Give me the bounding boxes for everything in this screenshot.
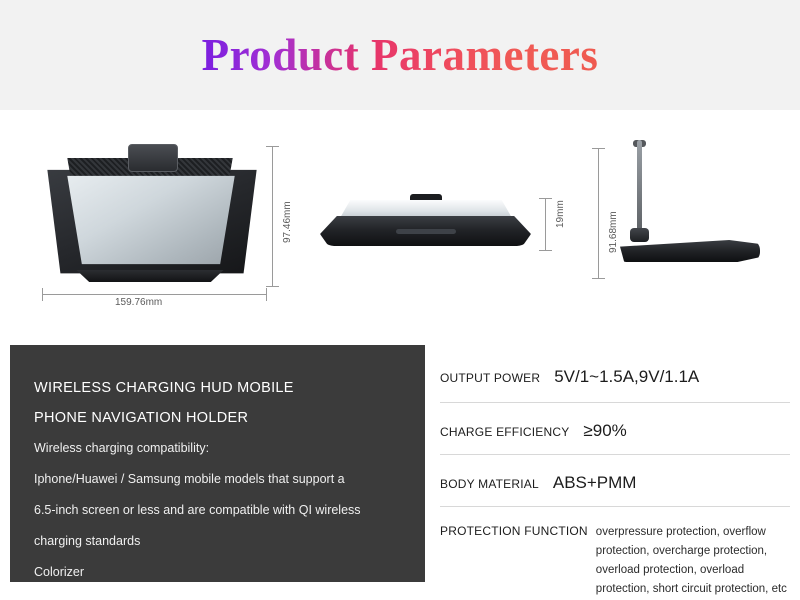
compatibility-line-1: Iphone/Huawei / Samsung mobile models th… — [34, 464, 401, 495]
spec-table: OUTPUT POWER 5V/1~1.5A, 9V/1.1A CHARGE E… — [440, 345, 790, 582]
dim-width-tick-left — [42, 288, 43, 301]
product-clip — [128, 144, 178, 172]
product-image-side — [318, 190, 533, 255]
dim-width-tick-right — [266, 288, 267, 301]
dim-height-tick-bottom — [266, 286, 279, 287]
dim-mid-tick-top — [539, 198, 552, 199]
spec-value-protection-function: overpressure protection, overflow protec… — [596, 523, 790, 599]
compatibility-subtitle: Wireless charging compatibility: — [34, 433, 401, 464]
dim-right-tick-bottom — [592, 278, 605, 279]
spec-value-output-power-2: 9V/1.1A — [639, 367, 700, 387]
colorizer-line: Colorizer — [34, 557, 401, 588]
spec-row-protection-function: PROTECTION FUNCTION overpressure protect… — [440, 507, 790, 582]
dim-width-line — [42, 294, 267, 295]
product-image-folded — [615, 140, 765, 285]
spec-value-charge-efficiency: ≥90% — [583, 421, 626, 441]
dim-mid-tick-bottom — [539, 250, 552, 251]
dim-right-height-label: 91.68mm — [608, 211, 619, 253]
dim-right-height-line — [598, 148, 599, 278]
spec-label-protection-function: PROTECTION FUNCTION — [440, 524, 588, 538]
dim-width-label: 159.76mm — [115, 297, 162, 308]
product-side-slot — [396, 229, 456, 234]
dim-mid-height-line — [545, 198, 546, 250]
spec-value-output-power: 5V/1~1.5A, — [554, 367, 639, 387]
product-base — [70, 270, 230, 282]
header-banner: Product Parameters — [0, 0, 800, 110]
spec-row-output-power: OUTPUT POWER 5V/1~1.5A, 9V/1.1A — [440, 345, 790, 403]
compatibility-line-3: charging standards — [34, 526, 401, 557]
product-parameters-page: Product Parameters 159.76mm 97.46mm — [0, 0, 800, 600]
spec-label-charge-efficiency: CHARGE EFFICIENCY — [440, 425, 569, 439]
product-arm — [637, 140, 642, 232]
dim-height-line — [272, 146, 273, 286]
dim-right-tick-top — [592, 148, 605, 149]
spec-label-output-power: OUTPUT POWER — [440, 371, 540, 385]
dim-mid-height-label: 19mm — [555, 200, 566, 228]
spec-row-body-material: BODY MATERIAL ABS+PMM — [440, 455, 790, 507]
spec-value-body-material: ABS+PMM — [553, 473, 637, 493]
product-description-panel: WIRELESS CHARGING HUD MOBILE PHONE NAVIG… — [10, 345, 425, 582]
product-hud-screen — [60, 174, 242, 266]
page-title: Product Parameters — [202, 29, 599, 81]
product-diagram-band: 159.76mm 97.46mm 19mm 91.68mm — [0, 110, 800, 335]
description-title-line1: WIRELESS CHARGING HUD MOBILE — [34, 373, 401, 403]
description-title-line2: PHONE NAVIGATION HOLDER — [34, 403, 401, 433]
product-folded-base — [620, 240, 760, 262]
product-arm-joint — [630, 228, 649, 242]
dim-height-label: 97.46mm — [282, 201, 293, 243]
product-side-top — [340, 200, 512, 218]
spec-label-body-material: BODY MATERIAL — [440, 477, 539, 491]
dim-height-tick-top — [266, 146, 279, 147]
compatibility-line-2: 6.5-inch screen or less and are compatib… — [34, 495, 401, 526]
spec-row-charge-efficiency: CHARGE EFFICIENCY ≥90% — [440, 403, 790, 455]
product-image-front — [40, 138, 265, 283]
